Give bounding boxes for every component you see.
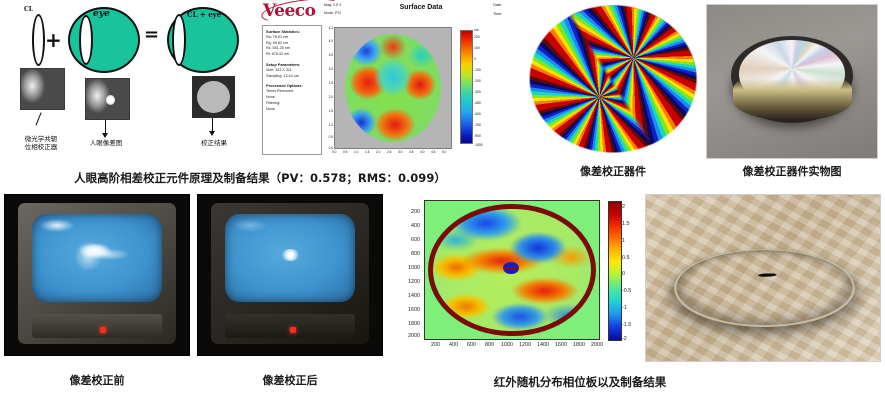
pm-y-tick-0: 200	[411, 209, 420, 215]
pm-x-tick-0: 200	[431, 342, 440, 348]
note-eye-aberration: 人眼像差图	[76, 139, 136, 147]
pm-x-tick-3: 800	[485, 342, 494, 348]
mode-value: PSI	[335, 11, 341, 15]
cb-unit: nm	[474, 28, 479, 32]
pm-cb-tick-8: -2	[622, 336, 627, 342]
wavefront-heatmap	[345, 34, 440, 142]
screen-glare-before	[40, 219, 74, 231]
cl-label: CL	[24, 6, 33, 13]
pm-y-tick-6: 1400	[408, 293, 420, 299]
y-tick-4: 2.5	[329, 81, 333, 85]
crt-base-before	[32, 314, 162, 338]
corrector-phase-map	[20, 68, 65, 110]
pm-y-tick-5: 1200	[408, 279, 420, 285]
y-tick-5: 2.0	[329, 95, 333, 99]
leader-line-left	[35, 112, 41, 125]
pm-cb-tick-0: 2	[622, 204, 625, 210]
x-tick-1: 0.5	[343, 150, 347, 154]
cb-tick-8: -750	[474, 123, 481, 127]
top-figure-title: 人眼高阶相差校正元件原理及制备结果（PV：0.578；RMS：0.099）	[0, 170, 520, 186]
phase-plate-heatmap-chart: 200 400 600 800 1000 1200 1400 1600 1800…	[392, 196, 640, 362]
x-tick-7: 3.5	[409, 150, 413, 154]
stats-heading: Surface Statistics:	[266, 29, 318, 34]
cb-tick-7: -600	[474, 112, 481, 116]
crt-screen-after	[225, 214, 355, 301]
veeco-logo: Veeco	[263, 1, 315, 21]
principle-diagram: CL + eye = CL + eye 微光学共轭 位相校正器 人眼像差图 校正…	[4, 2, 256, 164]
y-tick-6: 1.5	[329, 109, 333, 113]
uncorrected-spot	[71, 235, 128, 270]
eye-aberration-map	[85, 78, 130, 120]
x-tick-9: 4.5	[431, 150, 435, 154]
arrow-head-middle	[102, 133, 108, 138]
sum-inner-blade	[172, 14, 186, 66]
arrow-head-right	[209, 131, 215, 136]
setup-heading: Setup Parameters:	[266, 62, 318, 67]
cb-tick-4: -200	[474, 79, 481, 83]
pm-cb-tick-1: 1.5	[622, 221, 630, 227]
processed-heading: Processed Options:	[266, 83, 318, 88]
plus-sign: +	[45, 30, 62, 50]
pm-cb-tick-7: -1.5	[622, 322, 631, 328]
arrow-line-middle	[105, 120, 106, 134]
surface-plot-area	[334, 27, 452, 149]
cb-tick-9: -900	[474, 134, 481, 138]
x-tick-0: 0.0	[332, 150, 336, 154]
optic-barrel-rim	[733, 69, 852, 121]
heatmap-plot-area	[424, 200, 600, 340]
screen-glare-after	[233, 219, 267, 231]
crt-screen-before	[32, 214, 162, 301]
fringe-pattern-overlay	[528, 4, 698, 154]
pm-y-tick-9: 2000	[408, 333, 420, 339]
pm-cb-tick-6: -1	[622, 305, 627, 311]
central-obscuration-dot	[503, 262, 519, 274]
corrector-device-photo	[706, 4, 878, 159]
mag-row: Mag: 2.5 X	[324, 3, 341, 7]
x-tick-5: 2.5	[387, 150, 391, 154]
power-led-before	[100, 327, 106, 333]
eye-label: eye	[93, 9, 110, 19]
pm-y-tick-2: 600	[411, 237, 420, 243]
pm-cb-tick-2: 1	[622, 238, 625, 244]
y-tick-7: 1.0	[329, 123, 333, 127]
cb-tick-0: 220	[474, 35, 480, 39]
x-tick-6: 3.0	[398, 150, 402, 154]
mode-row: Mode: PSI	[324, 11, 341, 15]
processed-filtering-value: None	[266, 107, 318, 113]
pm-y-tick-8: 1800	[408, 321, 420, 327]
time-label: Time:	[493, 12, 502, 16]
power-led-after	[290, 327, 296, 333]
surface-statistics-box: Surface Statistics: Ra: 78.51 nm Rq: 99.…	[262, 25, 322, 155]
cb-tick-1: 100	[474, 46, 480, 50]
mode-label: Mode:	[324, 11, 334, 15]
cb-tick-10: -1000	[474, 143, 483, 147]
pm-y-tick-4: 1000	[408, 265, 420, 271]
heatmap-colorbar	[608, 201, 622, 341]
veeco-surface-data-panel: Veeco Mag: 2.5 X Mode: PSI Surface Data …	[258, 0, 504, 166]
x-tick-2: 1.0	[354, 150, 358, 154]
fringe-caption: 像差校正器件	[528, 163, 698, 179]
note-corrected-result: 校正结果	[184, 139, 244, 147]
crt-body-after	[211, 203, 369, 344]
y-tick-3: 3.0	[329, 67, 333, 71]
bottom-figure-caption: 红外随机分布相位板以及制备结果	[420, 374, 740, 390]
cb-tick-2: 0	[474, 57, 476, 61]
note-corrector-line2: 位相校正器	[10, 143, 72, 151]
heatmap-x-axis: 200 400 600 800 1000 1200 1400 1600 1800…	[422, 342, 602, 354]
optic-photo-caption: 像差校正器件实物图	[706, 163, 878, 179]
pm-x-tick-7: 1600	[555, 342, 567, 348]
surface-data-title: Surface Data	[376, 4, 466, 11]
phase-plate-center-mark	[758, 273, 777, 277]
pm-cb-tick-4: 0	[622, 271, 625, 277]
pm-x-tick-4: 1000	[501, 342, 513, 348]
pm-x-tick-2: 600	[467, 342, 476, 348]
x-tick-4: 2.0	[376, 150, 380, 154]
pm-y-tick-7: 1600	[408, 307, 420, 313]
surface-plot-y-axis: 4.3 4.0 3.5 3.0 2.5 2.0 1.5 1.0 0.5 0.0	[320, 26, 334, 150]
pm-x-tick-6: 1400	[537, 342, 549, 348]
mag-value: 2.5 X	[333, 3, 341, 7]
pm-cb-tick-5: -0.5	[622, 288, 631, 294]
surface-colorbar-ticks: nm 220 100 0 -100 -200 -300 -450 -600 -7…	[472, 27, 494, 147]
monitor-photo-after	[197, 194, 383, 356]
pm-y-tick-1: 400	[411, 223, 420, 229]
y-tick-0: 4.3	[329, 26, 333, 30]
x-tick-10: 5.0	[442, 150, 446, 154]
mag-label: Mag:	[324, 3, 332, 7]
x-tick-8: 4.0	[420, 150, 424, 154]
pm-x-tick-9: 2000	[591, 342, 603, 348]
figure-canvas: CL + eye = CL + eye 微光学共轭 位相校正器 人眼像差图 校正…	[0, 0, 885, 400]
aberration-corrector-fringe-pattern	[528, 4, 698, 160]
pm-cb-tick-3: 0.5	[622, 255, 630, 261]
equals-sign: =	[144, 26, 159, 44]
cb-tick-5: -300	[474, 90, 481, 94]
corrected-result-map	[192, 76, 235, 118]
corrected-spot	[282, 249, 299, 260]
note-corrector-line1: 微光学共轭	[10, 135, 72, 143]
cb-tick-6: -450	[474, 101, 481, 105]
phase-plate-photo	[645, 194, 881, 362]
y-tick-2: 3.5	[329, 53, 333, 57]
pm-x-tick-8: 1800	[573, 342, 585, 348]
cl-lens-blade	[32, 14, 45, 66]
monitor-after-caption: 像差校正后	[197, 372, 383, 388]
crt-body-before	[18, 203, 176, 344]
cl-plus-eye-label: CL + eye	[187, 10, 221, 19]
stats-rt: Rt: 578.32 nm	[266, 52, 318, 58]
pm-y-tick-3: 800	[411, 251, 420, 257]
y-tick-8: 0.5	[329, 135, 333, 139]
x-tick-3: 1.5	[365, 150, 369, 154]
surface-plot-x-axis: 0.0 0.5 1.0 1.5 2.0 2.5 3.0 3.5 4.0 4.5 …	[332, 150, 456, 160]
pm-x-tick-1: 400	[449, 342, 458, 348]
arrow-line-right	[212, 118, 213, 132]
monitor-before-caption: 像差校正前	[4, 372, 190, 388]
y-tick-1: 4.0	[329, 39, 333, 43]
phase-plate-disc	[655, 249, 876, 327]
pm-x-tick-5: 1200	[519, 342, 531, 348]
setup-sampling: Sampling: 13.44 um	[266, 74, 318, 80]
cb-tick-3: -100	[474, 68, 481, 72]
heatmap-y-axis: 200 400 600 800 1000 1200 1400 1600 1800…	[392, 200, 422, 340]
eye-inner-blade	[79, 15, 93, 65]
heatmap-colorbar-ticks: 2 1.5 1 0.5 0 -0.5 -1 -1.5 -2	[621, 198, 641, 343]
date-label: Date:	[493, 3, 502, 7]
note-corrector: 微光学共轭 位相校正器	[10, 135, 72, 151]
monitor-photo-before	[4, 194, 190, 356]
crt-base-after	[225, 314, 355, 338]
